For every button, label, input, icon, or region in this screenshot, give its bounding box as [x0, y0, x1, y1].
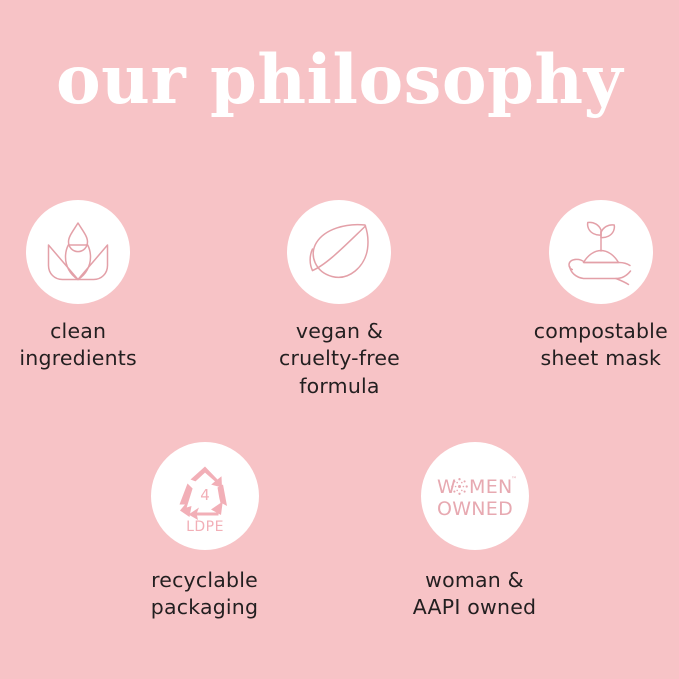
leaf-icon	[302, 219, 376, 285]
recycle-number: 4	[200, 486, 210, 504]
badge-label: woman & AAPI owned	[413, 567, 536, 622]
badge-circle: W	[421, 442, 529, 550]
philosophy-page: our philosophy cle	[0, 0, 679, 679]
badge-vegan-cruelty-free: vegan & cruelty-free formula	[261, 200, 417, 400]
badge-label: compostable sheet mask	[534, 318, 668, 373]
hand-sprout-icon	[561, 217, 641, 287]
women-owned-men: MEN	[469, 476, 513, 498]
women-owned-owned: OWNED	[436, 498, 512, 520]
badge-compostable-sheet-mask: compostable sheet mask	[523, 200, 679, 400]
recycle-material: LDPE	[186, 519, 224, 535]
trademark-symbol: ™	[511, 476, 517, 483]
badge-circle	[287, 200, 391, 304]
lotus-droplet-icon	[40, 216, 116, 288]
recycling-ldpe-icon: 4 LDPE	[166, 457, 244, 535]
women-owned-icon: W	[432, 470, 518, 522]
women-owned-w: W	[437, 476, 456, 498]
badge-circle	[549, 200, 653, 304]
badge-row-bottom: 4 LDPE recyclable packaging W	[0, 442, 679, 622]
badge-recyclable-packaging: 4 LDPE recyclable packaging	[120, 442, 290, 622]
badge-label: clean ingredients	[19, 318, 137, 373]
badge-label: vegan & cruelty-free formula	[279, 318, 400, 400]
badge-circle: 4 LDPE	[151, 442, 259, 550]
badge-clean-ingredients: clean ingredients	[0, 200, 156, 400]
badge-woman-aapi-owned: W	[390, 442, 560, 622]
badge-row-top: clean ingredients vegan & cruelty-free f…	[0, 200, 679, 400]
badge-circle	[26, 200, 130, 304]
page-title: our philosophy	[0, 46, 679, 113]
badge-label: recyclable packaging	[151, 567, 258, 622]
